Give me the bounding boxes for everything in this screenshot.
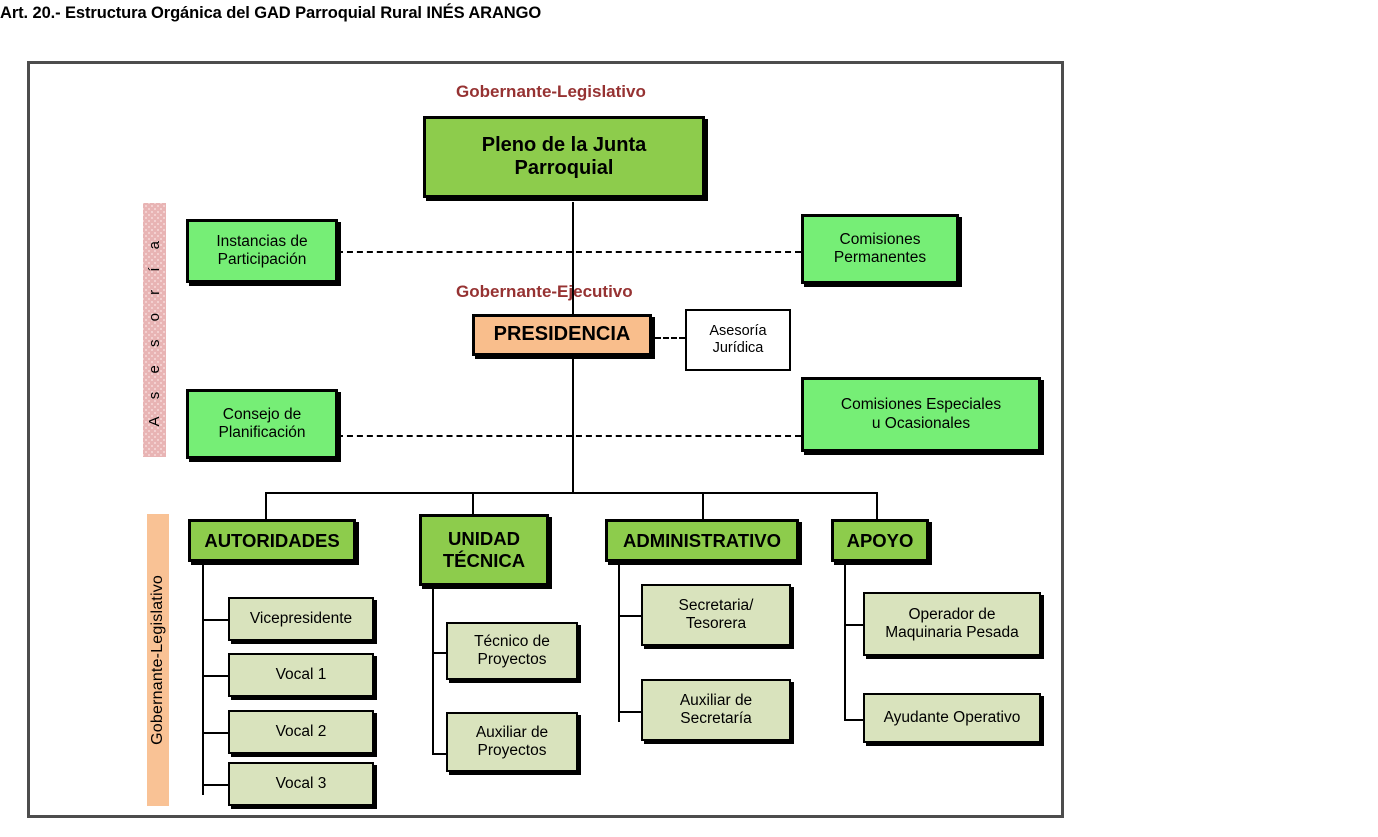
node-secretaria-line1: Secretaria/ xyxy=(679,597,754,615)
node-pleno-line1: Pleno de la Junta xyxy=(482,134,646,157)
connector-drop-apoyo xyxy=(876,492,878,521)
node-secretaria-line2: Tesorera xyxy=(679,615,754,633)
node-comisiones-permanentes-line1: Comisiones xyxy=(834,231,926,249)
node-vocal-3[interactable]: Vocal 3 xyxy=(228,762,374,806)
connector-drop-administrativo xyxy=(702,492,704,521)
connector-stub-auxiliar-secretaria xyxy=(618,711,641,713)
band-gobernante-legislativo-label: Gobernante-Legislativo xyxy=(149,575,167,745)
connector-spine-apoyo xyxy=(844,562,846,720)
diagram-frame: Gobernante-Legislativo Gobernante-Ejecut… xyxy=(27,61,1064,818)
node-unidad-tecnica-line1: UNIDAD xyxy=(443,528,525,550)
node-aux-proyectos-line2: Proyectos xyxy=(476,742,548,760)
connector-stub-tecnico-proyectos xyxy=(432,652,446,654)
node-tecnico-de-proyectos[interactable]: Técnico de Proyectos xyxy=(446,622,578,680)
node-operador-de-maquinaria-pesada[interactable]: Operador de Maquinaria Pesada xyxy=(863,592,1041,656)
node-aux-proyectos-line1: Auxiliar de xyxy=(476,724,548,742)
node-apoyo[interactable]: APOYO xyxy=(831,519,929,562)
node-consejo-line1: Consejo de xyxy=(218,406,305,424)
node-consejo-de-planificacion[interactable]: Consejo de Planificación xyxy=(186,389,338,459)
band-gobernante-legislativo: Gobernante-Legislativo xyxy=(147,514,169,806)
node-vicepresidente-label: Vicepresidente xyxy=(250,610,352,628)
organizational-chart-page: Art. 20.- Estructura Orgánica del GAD Pa… xyxy=(0,0,1378,837)
node-secretaria-tesorera[interactable]: Secretaria/ Tesorera xyxy=(641,584,791,646)
connector-stub-vocal1 xyxy=(202,675,228,677)
node-presidencia-label: PRESIDENCIA xyxy=(494,323,631,346)
node-vicepresidente[interactable]: Vicepresidente xyxy=(228,597,374,641)
connector-spine-administrativo xyxy=(618,562,620,722)
connector-consejo-comisiones-especiales xyxy=(337,435,801,437)
node-tecnico-line2: Proyectos xyxy=(474,651,550,669)
node-administrativo[interactable]: ADMINISTRATIVO xyxy=(605,519,799,562)
node-comisiones-especiales-line2: u Ocasionales xyxy=(841,415,1001,433)
node-comisiones-permanentes[interactable]: Comisiones Permanentes xyxy=(801,214,959,284)
node-presidencia[interactable]: PRESIDENCIA xyxy=(472,314,652,356)
node-comisiones-permanentes-line2: Permanentes xyxy=(834,249,926,267)
node-instancias-line1: Instancias de xyxy=(216,233,307,251)
caption-gobernante-ejecutivo: Gobernante-Ejecutivo xyxy=(456,282,633,302)
node-autoridades-label: AUTORIDADES xyxy=(204,530,339,552)
node-vocal-1[interactable]: Vocal 1 xyxy=(228,653,374,697)
node-pleno-de-la-junta-parroquial[interactable]: Pleno de la Junta Parroquial xyxy=(423,116,705,198)
node-unidad-tecnica[interactable]: UNIDAD TÉCNICA xyxy=(419,514,549,586)
node-aux-secretaria-line2: Secretaría xyxy=(680,710,752,728)
node-asesoria-juridica-line1: Asesoría xyxy=(709,323,766,340)
connector-distribution-bar xyxy=(265,492,876,494)
node-auxiliar-de-secretaria[interactable]: Auxiliar de Secretaría xyxy=(641,679,791,741)
node-aux-secretaria-line1: Auxiliar de xyxy=(680,692,752,710)
connector-stub-secretaria-tesorera xyxy=(618,615,641,617)
node-instancias-line2: Participación xyxy=(216,251,307,269)
connector-drop-unidad-tecnica xyxy=(472,492,474,516)
connector-drop-autoridades xyxy=(265,492,267,521)
node-ayudante-label: Ayudante Operativo xyxy=(884,709,1021,727)
band-asesoria: A s e s o r í a xyxy=(143,203,166,457)
node-operador-line2: Maquinaria Pesada xyxy=(885,624,1019,642)
node-asesoria-juridica-line2: Jurídica xyxy=(709,340,766,357)
connector-stub-vocal2 xyxy=(202,732,228,734)
node-tecnico-line1: Técnico de xyxy=(474,633,550,651)
connector-stub-vicepresidente xyxy=(202,619,228,621)
node-vocal-3-label: Vocal 3 xyxy=(276,775,327,793)
node-unidad-tecnica-line2: TÉCNICA xyxy=(443,550,525,572)
page-title: Art. 20.- Estructura Orgánica del GAD Pa… xyxy=(0,4,541,23)
node-comisiones-especiales-line1: Comisiones Especiales xyxy=(841,396,1001,414)
connector-presidencia-trunk xyxy=(572,354,574,493)
node-asesoria-juridica[interactable]: Asesoría Jurídica xyxy=(685,309,791,371)
node-operador-line1: Operador de xyxy=(885,606,1019,624)
node-autoridades[interactable]: AUTORIDADES xyxy=(188,519,356,562)
node-administrativo-label: ADMINISTRATIVO xyxy=(623,530,781,552)
node-vocal-2-label: Vocal 2 xyxy=(276,723,327,741)
connector-instancias-comisiones-permanentes xyxy=(337,251,801,253)
connector-stub-auxiliar-proyectos xyxy=(432,753,446,755)
caption-gobernante-legislativo: Gobernante-Legislativo xyxy=(456,82,646,102)
connector-spine-autoridades xyxy=(202,562,204,795)
connector-stub-vocal3 xyxy=(202,784,228,786)
node-apoyo-label: APOYO xyxy=(847,530,914,552)
node-ayudante-operativo[interactable]: Ayudante Operativo xyxy=(863,693,1041,743)
node-vocal-2[interactable]: Vocal 2 xyxy=(228,710,374,754)
connector-stub-ayudante-operativo xyxy=(844,719,863,721)
node-auxiliar-de-proyectos[interactable]: Auxiliar de Proyectos xyxy=(446,712,578,772)
connector-stub-operador-maquinaria xyxy=(844,624,863,626)
node-comisiones-especiales-u-ocasionales[interactable]: Comisiones Especiales u Ocasionales xyxy=(801,377,1041,452)
node-instancias-de-participacion[interactable]: Instancias de Participación xyxy=(186,219,338,283)
node-vocal-1-label: Vocal 1 xyxy=(276,666,327,684)
connector-spine-unidad-tecnica xyxy=(432,586,434,754)
node-pleno-line2: Parroquial xyxy=(482,157,646,180)
band-asesoria-label: A s e s o r í a xyxy=(146,234,163,427)
node-consejo-line2: Planificación xyxy=(218,424,305,442)
connector-presidencia-asesoria-juridica xyxy=(655,337,685,339)
